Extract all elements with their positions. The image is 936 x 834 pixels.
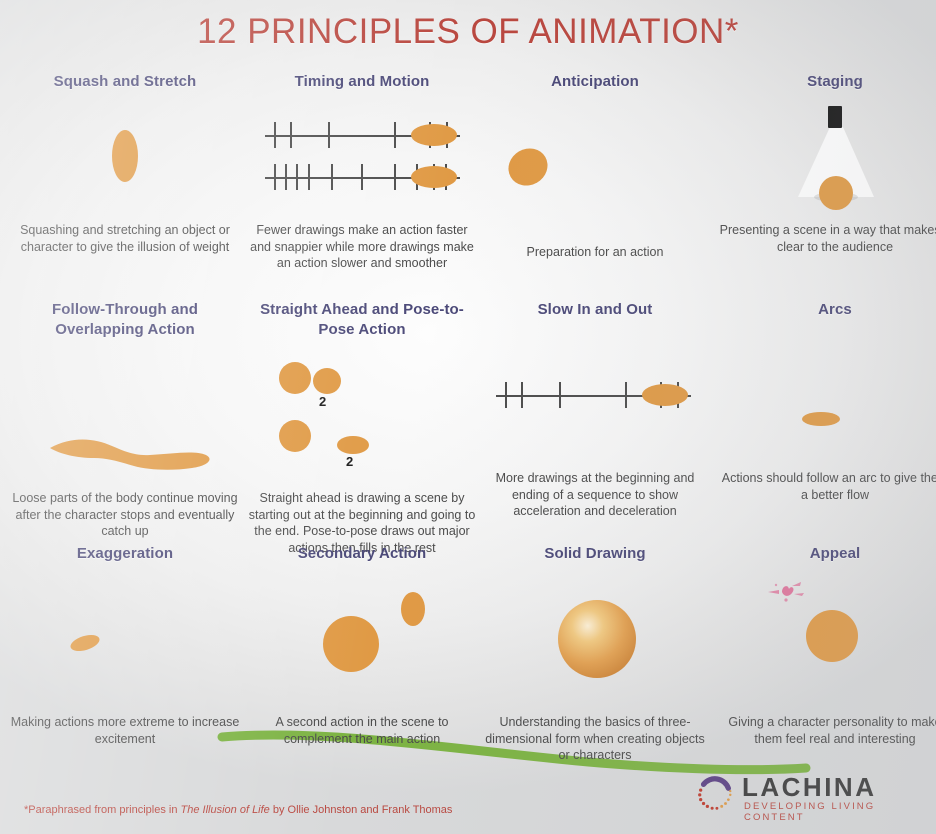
lachina-wordmark: LACHINA — [742, 772, 877, 803]
principle-heading: Exaggeration — [8, 544, 242, 564]
principle-heading: Appeal — [718, 544, 936, 564]
principle-heading: Arcs — [718, 300, 936, 320]
follow-through-trail-icon — [8, 340, 242, 490]
principle-description: Presenting a scene in a way that makes i… — [718, 222, 936, 255]
lachina-tagline: DEVELOPING LIVING CONTENT — [744, 801, 936, 823]
principle-heading: Straight Ahead and Pose-to-Pose Action — [245, 300, 479, 340]
footnote-prefix: *Paraphrased from principles in — [24, 804, 181, 816]
timeline-blob-icon — [642, 384, 688, 406]
principle-heading: Anticipation — [478, 72, 712, 92]
anticipation-ellipse-icon — [502, 141, 555, 192]
principle-art-circle-with-sparkle — [718, 564, 936, 714]
solid-drawing-sphere-icon — [558, 600, 636, 678]
timeline-tick — [394, 164, 396, 190]
timeline-tick — [328, 122, 330, 148]
pose-circle-icon — [313, 368, 341, 394]
timeline-tick — [559, 382, 561, 408]
principle-card-solid-drawing: Solid Drawing Understanding the basics o… — [478, 544, 712, 764]
page-title: 12 PRINCIPLES OF ANIMATION* — [0, 12, 936, 52]
principle-heading: Staging — [718, 72, 936, 92]
principle-art-big-circle-plus-small — [245, 564, 479, 714]
timeline-tick — [296, 164, 298, 190]
footnote-book-title: The Illusion of Life — [181, 804, 270, 816]
pose-circle-icon — [279, 420, 311, 452]
principle-card-anticipation: Anticipation Preparation for an action — [478, 72, 712, 261]
principle-art-single-timeline — [478, 320, 712, 470]
principle-art-two-timelines — [245, 92, 479, 222]
principle-card-arcs: Arcs Actions should follow an arc to giv… — [718, 300, 936, 503]
principle-art-trailing-blob — [8, 340, 242, 490]
principle-art-spotlight-cone — [718, 92, 936, 222]
principles-grid: Squash and Stretch Squashing and stretch… — [0, 72, 936, 762]
timeline-tick — [290, 122, 292, 148]
timeline-blob-icon — [411, 124, 457, 146]
timeline-tick — [625, 382, 627, 408]
infographic-poster: 12 PRINCIPLES OF ANIMATION* Squash and S… — [0, 0, 936, 834]
principle-heading: Slow In and Out — [478, 300, 712, 320]
principle-card-secondary-action: Secondary Action A second action in the … — [245, 544, 479, 747]
timeline-tick — [361, 164, 363, 190]
principle-description: Preparation for an action — [478, 222, 712, 261]
principle-card-slow-in-and-out: Slow In and Out More drawings at the beg… — [478, 300, 712, 520]
principle-card-staging: Staging Presenting a scene in a way that… — [718, 72, 936, 255]
stage-light-source-icon — [828, 106, 842, 128]
principle-art-vertical-ellipse — [8, 92, 242, 222]
timeline-ease-icon — [496, 380, 691, 410]
principle-description: A second action in the scene to compleme… — [245, 714, 479, 747]
principle-description: Understanding the basics of three-dimens… — [478, 714, 712, 764]
exaggeration-ellipse-icon — [69, 632, 102, 654]
principle-heading: Timing and Motion — [245, 72, 479, 92]
secondary-small-ellipse-icon — [401, 592, 425, 626]
principle-art-tilted-ellipse — [478, 92, 712, 222]
timeline-tick — [308, 164, 310, 190]
principle-card-follow-through-and-overlapping-action: Follow-Through and Overlapping Action Lo… — [8, 300, 242, 540]
timeline-blob-icon — [411, 166, 457, 188]
timeline-tick — [274, 164, 276, 190]
timeline-tick — [505, 382, 507, 408]
pose-circle-icon — [337, 436, 369, 454]
principle-art-flat-ellipse — [718, 320, 936, 470]
appeal-circle-icon — [806, 610, 858, 662]
principle-art-four-poses: 2 2 — [245, 340, 479, 490]
principle-heading: Squash and Stretch — [8, 72, 242, 92]
principle-art-small-tilted-ellipse — [8, 564, 242, 714]
principle-card-appeal: Appeal Giving a character personality to… — [718, 544, 936, 747]
timeline-tick — [274, 122, 276, 148]
pose-label: 2 — [319, 394, 326, 409]
staging-circle-icon — [819, 176, 853, 210]
principle-art-shaded-sphere — [478, 564, 712, 714]
principle-description: Making actions more extreme to increase … — [8, 714, 242, 747]
timeline-tick — [285, 164, 287, 190]
principle-description: Squashing and stretching an object or ch… — [8, 222, 242, 255]
pose-circle-icon — [279, 362, 311, 394]
principle-description: More drawings at the beginning and endin… — [478, 470, 712, 520]
principle-card-straight-ahead-and-pose-to-pose-action: Straight Ahead and Pose-to-Pose Action 2… — [245, 300, 479, 556]
principle-card-squash-and-stretch: Squash and Stretch Squashing and stretch… — [8, 72, 242, 255]
principle-description: Actions should follow an arc to give the… — [718, 470, 936, 503]
timeline-tick — [331, 164, 333, 190]
lachina-ring-icon — [694, 772, 736, 814]
principle-description: Loose parts of the body continue moving … — [8, 490, 242, 540]
secondary-main-circle-icon — [323, 616, 379, 672]
footnote: *Paraphrased from principles in The Illu… — [24, 804, 452, 816]
timeline-slow-icon — [265, 162, 460, 192]
timeline-fast-icon — [265, 120, 460, 150]
timeline-tick — [521, 382, 523, 408]
footnote-suffix: by Ollie Johnston and Frank Thomas — [270, 804, 453, 816]
principle-heading: Secondary Action — [245, 544, 479, 564]
principle-description: Giving a character personality to make t… — [718, 714, 936, 747]
timeline-tick — [394, 122, 396, 148]
principle-card-exaggeration: Exaggeration Making actions more extreme… — [8, 544, 242, 747]
arcs-ellipse-icon — [802, 412, 840, 426]
lachina-logo[interactable]: LACHINA DEVELOPING LIVING CONTENT — [690, 768, 936, 820]
principle-heading: Solid Drawing — [478, 544, 712, 564]
principle-description: Fewer drawings make an action faster and… — [245, 222, 479, 272]
appeal-sparkle-icon — [762, 576, 808, 606]
squash-stretch-ellipse-icon — [112, 130, 138, 182]
principle-card-timing-and-motion: Timing and Motion — [245, 72, 479, 272]
pose-label: 2 — [346, 454, 353, 469]
principle-heading: Follow-Through and Overlapping Action — [8, 300, 242, 340]
